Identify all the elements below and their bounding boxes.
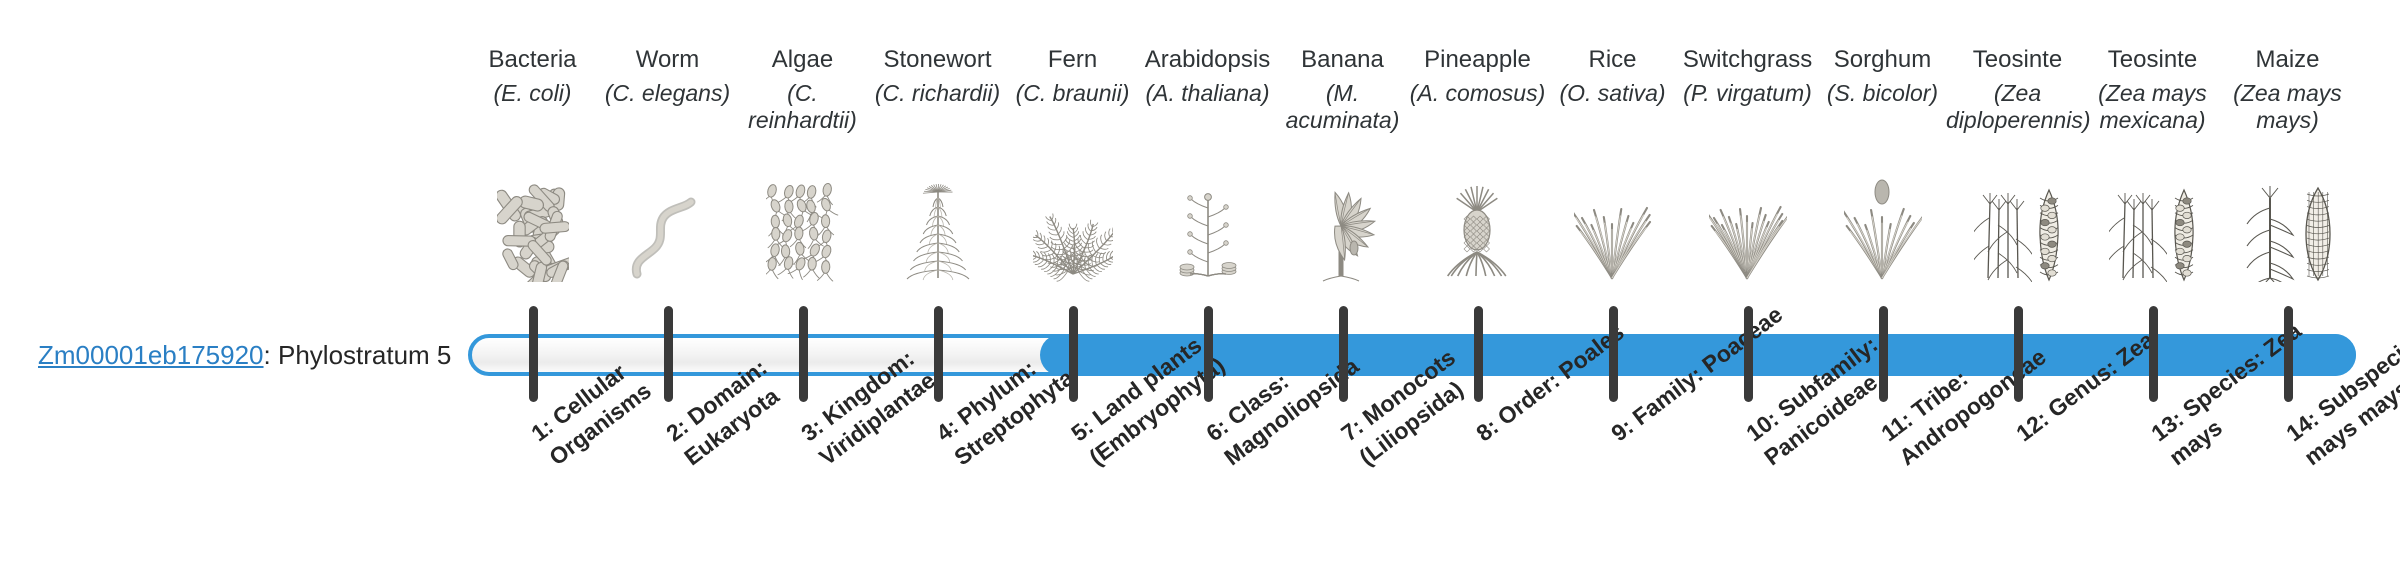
banana-illustration xyxy=(1275,172,1410,282)
species-column-arabidopsis-6: Arabidopsis(A. thaliana) xyxy=(1140,0,1275,310)
rank-text: Subspecies: Zea mays mays xyxy=(2299,292,2400,470)
species-column-stonewort-4: Stonewort(C. richardii) xyxy=(870,0,1005,310)
fern-illustration xyxy=(1005,172,1140,282)
maize-illustration xyxy=(2220,172,2355,282)
species-common-name: Stonewort xyxy=(870,46,1005,74)
species-latin-name: (C. reinhardtii) xyxy=(731,80,874,134)
algae-illustration xyxy=(735,172,870,282)
species-latin-name: (M. acuminata) xyxy=(1271,80,1414,134)
species-latin-name: (C. elegans) xyxy=(596,80,739,107)
gene-id-link[interactable]: Zm00001eb175920 xyxy=(38,340,264,370)
phylostratigraphy-figure: Zm00001eb175920: Phylostratum 5 Bacteria… xyxy=(0,0,2400,580)
species-common-name: Teosinte xyxy=(1950,46,2085,74)
species-common-name: Bacteria xyxy=(465,46,600,74)
species-latin-name: (E. coli) xyxy=(461,80,604,107)
species-latin-name: (P. virgatum) xyxy=(1676,80,1819,107)
species-column-teosinte-13: Teosinte(Zea mays mexicana) xyxy=(2085,0,2220,310)
worm-illustration xyxy=(600,172,735,282)
species-latin-name: (A. thaliana) xyxy=(1136,80,1279,107)
species-column-fern-5: Fern(C. braunii) xyxy=(1005,0,1140,310)
species-latin-name: (C. richardii) xyxy=(866,80,1009,107)
rank-number: 4: xyxy=(931,413,963,446)
pineapple-illustration xyxy=(1410,172,1545,282)
species-latin-name: (C. braunii) xyxy=(1001,80,1144,107)
rank-number: 3: xyxy=(796,413,828,446)
rank-number: 5: xyxy=(1066,413,1098,446)
species-column-worm-2: Worm(C. elegans) xyxy=(600,0,735,310)
rank-number: 10: xyxy=(1741,406,1783,447)
species-latin-name: (Zea diploperennis) xyxy=(1946,80,2089,134)
species-common-name: Fern xyxy=(1005,46,1140,74)
arabidopsis-illustration xyxy=(1140,172,1275,282)
rice-illustration xyxy=(1545,172,1680,282)
species-common-name: Rice xyxy=(1545,46,1680,74)
species-column-pineapple-8: Pineapple(A. comosus) xyxy=(1410,0,1545,310)
rank-number: 6: xyxy=(1201,413,1233,446)
rank-number: 8: xyxy=(1471,413,1503,446)
species-common-name: Sorghum xyxy=(1815,46,1950,74)
species-column-rice-9: Rice(O. sativa) xyxy=(1545,0,1680,310)
rank-number: 9: xyxy=(1606,413,1638,446)
gene-label-separator: : xyxy=(264,340,278,370)
species-header-row: Bacteria(E. coli)Worm(C. elegans) Algae(… xyxy=(465,0,2360,310)
gene-phylostratum-label: Zm00001eb175920: Phylostratum 5 xyxy=(38,339,451,371)
rank-number: 7: xyxy=(1336,413,1368,446)
species-common-name: Arabidopsis xyxy=(1140,46,1275,74)
sorghum-illustration xyxy=(1815,172,1950,282)
rank-number: 11: xyxy=(1876,406,1917,446)
rank-number: 12: xyxy=(2011,406,2053,447)
species-latin-name: (A. comosus) xyxy=(1406,80,1549,107)
species-latin-name: (Zea mays mays) xyxy=(2216,80,2359,134)
phylostratum-value-text: Phylostratum 5 xyxy=(278,340,451,370)
species-common-name: Switchgrass xyxy=(1680,46,1815,74)
species-common-name: Banana xyxy=(1275,46,1410,74)
species-latin-name: (O. sativa) xyxy=(1541,80,1684,107)
bacteria-illustration xyxy=(465,172,600,282)
species-common-name: Pineapple xyxy=(1410,46,1545,74)
rank-number: 13: xyxy=(2146,406,2188,447)
phylostratum-progress-bar[interactable] xyxy=(462,330,2362,380)
rank-number: 1: xyxy=(526,413,558,446)
species-column-maize-14: Maize(Zea mays mays) xyxy=(2220,0,2355,310)
species-column-algae-3: Algae(C. reinhardtii) xyxy=(735,0,870,310)
switchgrass-illustration xyxy=(1680,172,1815,282)
species-column-switchgrass-10: Switchgrass(P. virgatum) xyxy=(1680,0,1815,310)
rank-number: 2: xyxy=(661,413,693,446)
stonewort-illustration xyxy=(870,172,1005,282)
teosinte-diploperennis-illustration xyxy=(1950,172,2085,282)
teosinte-mexicana-illustration xyxy=(2085,172,2220,282)
species-column-bacteria-1: Bacteria(E. coli) xyxy=(465,0,600,310)
species-column-sorghum-11: Sorghum(S. bicolor) xyxy=(1815,0,1950,310)
species-common-name: Worm xyxy=(600,46,735,74)
species-column-teosinte-12: Teosinte(Zea diploperennis) xyxy=(1950,0,2085,310)
species-latin-name: (S. bicolor) xyxy=(1811,80,1954,107)
species-latin-name: (Zea mays mexicana) xyxy=(2081,80,2224,134)
progress-fill xyxy=(1040,334,2356,376)
species-common-name: Teosinte xyxy=(2085,46,2220,74)
species-common-name: Algae xyxy=(735,46,870,74)
species-common-name: Maize xyxy=(2220,46,2355,74)
species-column-banana-7: Banana(M. acuminata) xyxy=(1275,0,1410,310)
rank-number: 14: xyxy=(2281,406,2323,447)
